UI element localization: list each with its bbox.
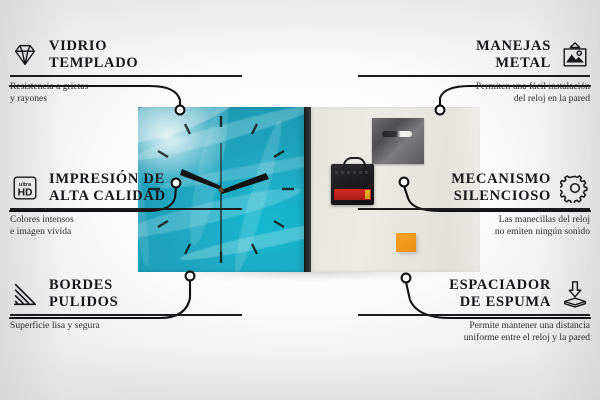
feature-title: Bordes Pulidos xyxy=(49,277,118,311)
feature-vidrio-templado: Vidrio Templado Resistencia a grietas y … xyxy=(10,38,242,106)
feature-divider xyxy=(10,314,242,316)
foam-spacer-icon xyxy=(560,279,590,309)
ultra-hd-icon: ultra HD xyxy=(10,173,40,203)
gear-icon xyxy=(560,173,590,203)
feature-title: Impresión de Alta Calidad xyxy=(49,171,166,205)
metal-hanger-plate xyxy=(372,118,424,164)
feature-description: Resistencia a grietas y rayones xyxy=(10,81,242,106)
feature-title: Manejas Metal xyxy=(476,38,551,72)
feature-espaciador-espuma: Espaciador de Espuma Permite mantener un… xyxy=(358,277,590,345)
feature-title: Mecanismo Silencioso xyxy=(451,171,551,205)
feature-mecanismo-silencioso: Mecanismo Silencioso Las manecillas del … xyxy=(358,171,590,239)
feature-header: Mecanismo Silencioso xyxy=(358,171,590,205)
feature-divider xyxy=(358,75,590,77)
feature-description: Permiten una fácil instalación del reloj… xyxy=(358,81,590,106)
movement-hook xyxy=(343,157,366,170)
feature-title: Vidrio Templado xyxy=(49,38,138,72)
feature-description: Las manecillas del reloj no emiten ningú… xyxy=(358,214,590,239)
picture-hanger-icon xyxy=(560,40,590,70)
feature-description: Superficie lisa y segura xyxy=(10,320,242,333)
feature-header: Vidrio Templado xyxy=(10,38,242,72)
clock-side-edge xyxy=(304,107,311,272)
svg-text:HD: HD xyxy=(18,188,33,199)
feature-header: Espaciador de Espuma xyxy=(358,277,590,311)
feature-impresion-alta-calidad: ultra HD Impresión de Alta Calidad Color… xyxy=(10,171,242,239)
hanger-slot xyxy=(382,131,412,137)
diamond-icon xyxy=(10,40,40,70)
feature-bordes-pulidos: Bordes Pulidos Superficie lisa y segura xyxy=(10,277,242,332)
feature-divider xyxy=(10,75,242,77)
feature-description: Permite mantener una distancia uniforme … xyxy=(358,320,590,345)
feature-description: Colores intensos e imagen vívida xyxy=(10,214,242,239)
feature-title: Espaciador de Espuma xyxy=(449,277,551,311)
feature-divider xyxy=(358,314,590,316)
feature-header: Manejas Metal xyxy=(358,38,590,72)
feature-divider xyxy=(358,208,590,210)
feature-divider xyxy=(10,208,242,210)
infographic-canvas: Vidrio Templado Resistencia a grietas y … xyxy=(0,0,600,400)
feature-header: ultra HD Impresión de Alta Calidad xyxy=(10,171,242,205)
polished-edge-icon xyxy=(10,279,40,309)
feature-header: Bordes Pulidos xyxy=(10,277,242,311)
feature-manejas-metal: Manejas Metal Permiten una fácil instala… xyxy=(358,38,590,106)
